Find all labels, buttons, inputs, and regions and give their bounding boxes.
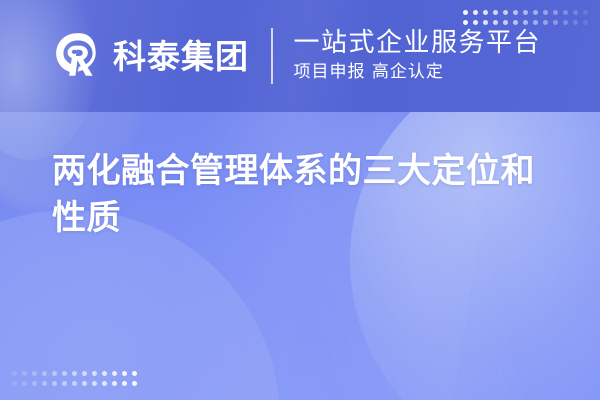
decorative-dot-grid-bottom-left xyxy=(12,371,137,386)
decorative-dot xyxy=(122,381,127,386)
decorative-dot xyxy=(82,371,87,376)
tagline-block: 一站式企业服务平台 项目申报 高企认定 xyxy=(294,29,542,84)
decorative-dot xyxy=(72,381,77,386)
decorative-dot xyxy=(92,371,97,376)
decorative-dot xyxy=(52,371,57,376)
decorative-dot xyxy=(12,381,17,386)
article-cover-banner: 科泰集团 一站式企业服务平台 项目申报 高企认定 两化融合管理体系的三大定位和性… xyxy=(0,0,600,400)
header-content: 科泰集团 一站式企业服务平台 项目申报 高企认定 xyxy=(0,0,600,112)
decorative-dot xyxy=(42,381,47,386)
decorative-dot xyxy=(132,371,137,376)
dot-row xyxy=(12,371,137,376)
decorative-dot xyxy=(112,371,117,376)
decorative-dot xyxy=(42,371,47,376)
decorative-dot xyxy=(132,381,137,386)
decorative-dot xyxy=(62,381,67,386)
decorative-dot xyxy=(82,381,87,386)
decorative-dot xyxy=(22,371,27,376)
tagline-secondary: 项目申报 高企认定 xyxy=(294,61,542,83)
decorative-dot xyxy=(112,381,117,386)
decorative-dot xyxy=(72,371,77,376)
decorative-dot xyxy=(122,371,127,376)
decorative-dot xyxy=(62,371,67,376)
decorative-dot xyxy=(102,381,107,386)
decorative-dot xyxy=(32,371,37,376)
tagline-primary: 一站式企业服务平台 xyxy=(294,29,542,59)
header-divider xyxy=(271,28,273,84)
brand-name: 科泰集团 xyxy=(113,40,249,73)
decorative-dot xyxy=(52,381,57,386)
brand-lockup[interactable]: 科泰集团 xyxy=(52,30,249,82)
decorative-dot xyxy=(32,381,37,386)
decorative-dot xyxy=(22,381,27,386)
ketai-group-logo-icon xyxy=(52,30,104,82)
dot-row xyxy=(12,381,137,386)
decorative-dot xyxy=(92,381,97,386)
article-title: 两化融合管理体系的三大定位和性质 xyxy=(52,148,552,242)
decorative-dot xyxy=(102,371,107,376)
decorative-dot xyxy=(12,371,17,376)
